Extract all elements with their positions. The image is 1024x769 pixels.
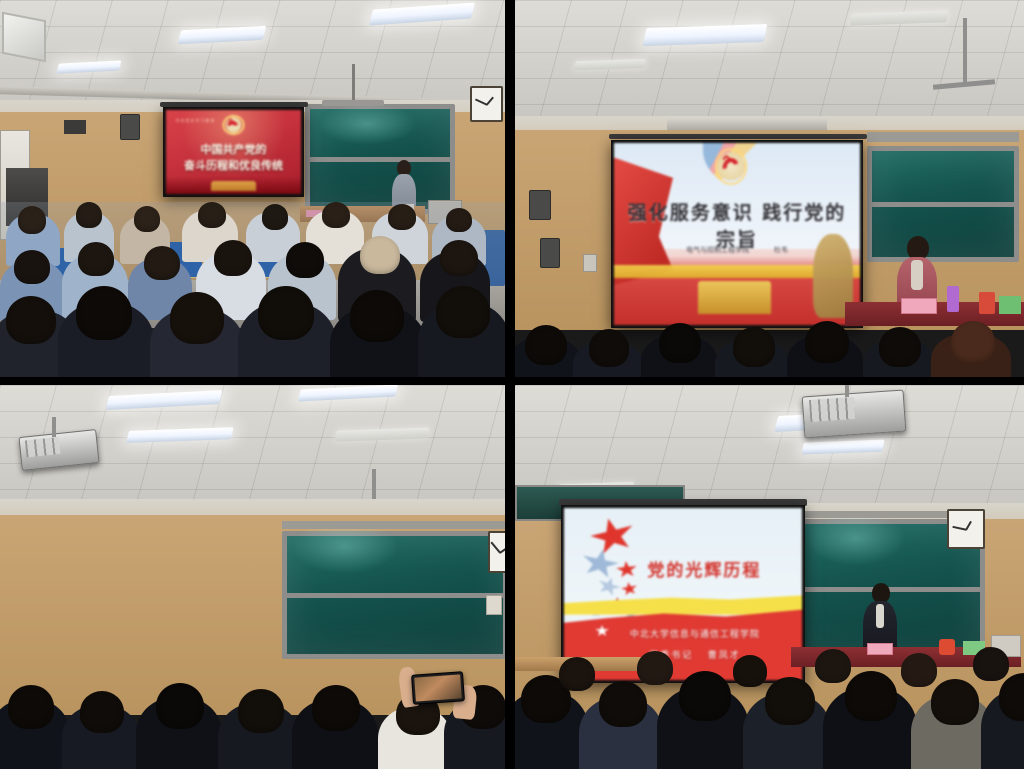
tiananmen-icon: [698, 281, 772, 314]
wall-speaker: [120, 114, 140, 140]
blackboard: [305, 104, 455, 214]
slide-2-title: 强化服务意识 践行党的宗旨: [626, 198, 847, 252]
board-lamp: [867, 132, 1019, 142]
smartphone[interactable]: [411, 671, 465, 705]
photo-collage: 中共党史学习教育 中国共产党的 奋斗历程和优良传统: [0, 0, 1024, 769]
projection-screen-1: 中共党史学习教育 中国共产党的 奋斗历程和优良传统: [163, 107, 304, 197]
wall-plate: [486, 595, 502, 615]
desk-name-card: [901, 298, 937, 314]
slide-1: 中共党史学习教育 中国共产党的 奋斗历程和优良传统: [166, 110, 301, 194]
slide-4-title: 党的光辉历程: [621, 556, 788, 581]
wall-clock: [470, 86, 503, 122]
projector-mount: [845, 385, 849, 397]
star-icon: [620, 581, 639, 597]
panel-top-right: 强化服务意识 践行党的宗旨 电气与控制工程学院 杜韦: [510, 0, 1024, 381]
ceiling-vent: [2, 12, 46, 63]
classroom-scene-1: 中共党史学习教育 中国共产党的 奋斗历程和优良传统: [0, 0, 505, 377]
classroom-scene-2: 强化服务意识 践行党的宗旨 电气与控制工程学院 杜韦: [515, 0, 1024, 377]
hanging-rod: [963, 18, 967, 84]
audience-3: [0, 659, 505, 769]
audience-4: [515, 639, 1024, 769]
wall-clock: [947, 509, 985, 549]
desk-item: [999, 296, 1021, 314]
audience-1: [0, 202, 505, 377]
wall-trim: [667, 118, 827, 130]
wall-speaker: [64, 120, 86, 134]
classroom-scene-3: 党的组织原则 一、党为什么需要组织原则? 二、中国共产党为什么采用民主集中制作为…: [0, 385, 505, 769]
panel-bottom-right: 党的光辉历程 中北大学信息与通信工程学院 党委书记 曹凤才: [510, 381, 1024, 769]
board-lamp: [322, 100, 384, 106]
screen-roller: [609, 134, 867, 139]
slide-2-org: 电气与控制工程学院: [686, 245, 749, 255]
board-lamp: [282, 521, 505, 529]
slide-2: 强化服务意识 践行党的宗旨 电气与控制工程学院 杜韦: [614, 143, 860, 325]
panel-bottom-left: 党的组织原则 一、党为什么需要组织原则? 二、中国共产党为什么采用民主集中制作为…: [0, 381, 510, 769]
projector-mount: [52, 417, 56, 437]
classroom-scene-4: 党的光辉历程 中北大学信息与通信工程学院 党委书记 曹凤才: [515, 385, 1024, 769]
wall-plate: [583, 254, 597, 272]
slide-1-tiny-text: 中共党史学习教育: [175, 118, 215, 124]
blackboard: [282, 531, 505, 659]
blackboard: [867, 146, 1019, 262]
slide-2-subtitle: 电气与控制工程学院 杜韦: [634, 245, 841, 255]
slide-2-speaker: 杜韦: [774, 245, 788, 255]
wall-clock: [488, 531, 505, 573]
panel-top-left: 中共党史学习教育 中国共产党的 奋斗历程和优良传统: [0, 0, 510, 381]
slide-1-title: 中国共产党的 奋斗历程和优良传统: [174, 142, 293, 174]
wall-speaker: [529, 190, 551, 220]
audience-2: [515, 315, 1024, 377]
desk-item: [947, 286, 959, 312]
projection-screen-2: 强化服务意识 践行党的宗旨 电气与控制工程学院 杜韦: [611, 140, 863, 328]
wall-speaker: [540, 238, 560, 268]
cpc-emblem-icon: [715, 148, 747, 184]
desk-item: [979, 292, 995, 314]
tiananmen-icon: [211, 181, 257, 191]
cpc-emblem-icon: [222, 115, 245, 135]
ceiling-projector: [802, 389, 907, 438]
